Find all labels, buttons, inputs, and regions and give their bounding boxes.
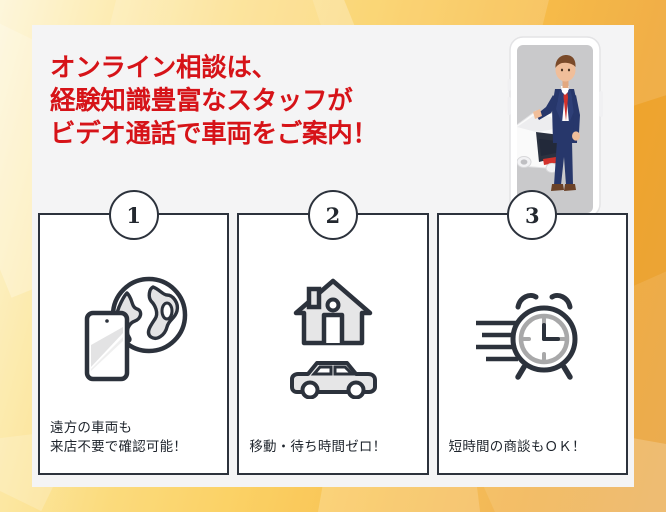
content-panel: オンライン相談は、経験知識豊富なスタッフがビデオ通話で車両をご案内！	[32, 25, 634, 487]
feature-card-2[interactable]: 2	[237, 213, 428, 475]
headline-line-2: 経験知識豊富なスタッフが	[50, 85, 378, 118]
page-title: オンライン相談は、経験知識豊富なスタッフがビデオ通話で車両をご案内！	[50, 52, 378, 151]
promo-banner: オンライン相談は、経験知識豊富なスタッフがビデオ通話で車両をご案内！	[0, 0, 666, 512]
card-1-caption-line-1: 遠方の車両も	[50, 419, 227, 438]
feature-card-row: 1 遠方の車両も来店不要で確認可能！	[38, 213, 628, 475]
speedy-alarm-clock-icon	[472, 289, 592, 385]
house-icon	[290, 275, 376, 349]
step-badge-2: 2	[308, 190, 358, 240]
card-1-caption: 遠方の車両も来店不要で確認可能！	[40, 419, 227, 473]
step-badge-1: 1	[109, 190, 159, 240]
card-3-caption-line-1: 短時間の商談もＯＫ！	[449, 438, 626, 457]
feature-card-1[interactable]: 1 遠方の車両も来店不要で確認可能！	[38, 213, 229, 475]
feature-card-3[interactable]: 3	[437, 213, 628, 475]
card-2-caption-line-1: 移動・待ち時間ゼロ！	[249, 438, 426, 457]
card-2-artwork	[239, 215, 426, 438]
card-3-caption: 短時間の商談もＯＫ！	[439, 438, 626, 473]
card-1-artwork	[40, 215, 227, 419]
globe-smartphone-icon	[75, 271, 193, 383]
car-icon	[284, 355, 382, 399]
headline-line-3: ビデオ通話で車両をご案内！	[50, 118, 378, 151]
card-1-caption-line-2: 来店不要で確認可能！	[50, 438, 227, 457]
step-badge-3: 3	[507, 190, 557, 240]
hero-smartphone-illustration	[506, 35, 604, 217]
card-2-caption: 移動・待ち時間ゼロ！	[239, 438, 426, 473]
card-3-artwork	[439, 215, 626, 438]
headline-line-1: オンライン相談は、	[50, 52, 378, 85]
